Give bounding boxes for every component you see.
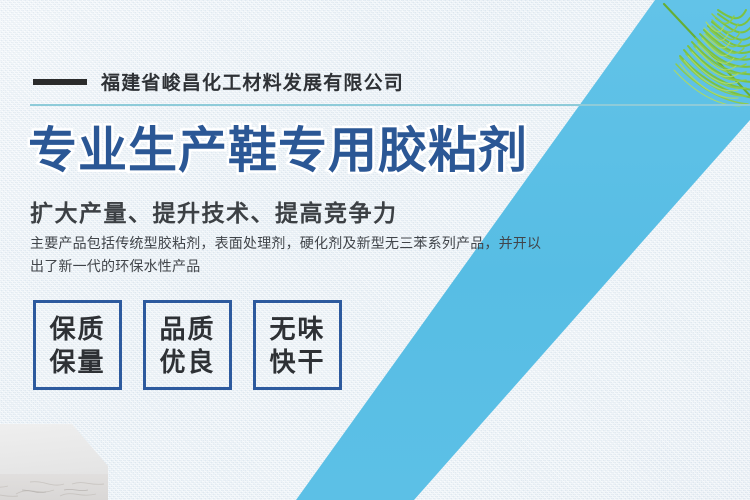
feature-box-3-line2: 快干 [269,346,325,378]
feature-box-1: 保质 保量 [33,300,122,390]
feature-box-3: 无味 快干 [253,300,342,390]
horizontal-rule [30,104,750,106]
promo-banner: 福建省峻昌化工材料发展有限公司 专业生产鞋专用胶粘剂 扩大产量、提升技术、提高竞… [0,0,750,500]
dash-icon [33,79,87,85]
feature-box-3-line1: 无味 [269,313,325,345]
subheadline: 扩大产量、提升技术、提高竞争力 [30,194,398,228]
feature-box-group: 保质 保量 品质 优良 无味 快干 [33,300,342,390]
feature-box-1-line2: 保量 [49,346,105,378]
feature-box-1-line1: 保质 [49,313,105,345]
feature-box-2-line2: 优良 [159,346,215,378]
company-name: 福建省峻昌化工材料发展有限公司 [101,68,404,95]
body-copy: 主要产品包括传统型胶粘剂，表面处理剂，硬化剂及新型无三苯系列产品，并开以出了新一… [30,232,550,278]
banner-content: 福建省峻昌化工材料发展有限公司 专业生产鞋专用胶粘剂 扩大产量、提升技术、提高竞… [0,0,750,500]
feature-box-2-line1: 品质 [159,313,215,345]
company-row: 福建省峻昌化工材料发展有限公司 [33,68,404,95]
headline: 专业生产鞋专用胶粘剂 [28,122,528,180]
feature-box-2: 品质 优良 [143,300,232,390]
